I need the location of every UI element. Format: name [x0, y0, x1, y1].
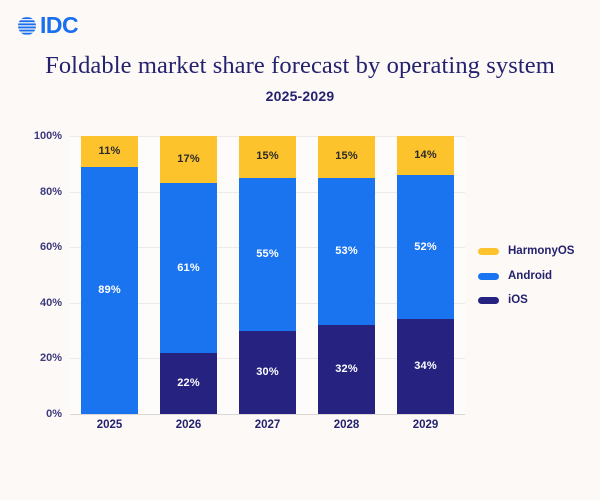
- y-axis-tick-label: 60%: [18, 241, 62, 253]
- bar-segment-ios[interactable]: 32%: [318, 325, 375, 414]
- bar-segment-label: 30%: [256, 367, 279, 378]
- bar-stack[interactable]: 11%89%: [81, 136, 138, 414]
- bar-segment-android[interactable]: 55%: [239, 178, 296, 331]
- bar-segment-label: 89%: [98, 285, 121, 296]
- bar-segment-harmonyos[interactable]: 17%: [160, 136, 217, 183]
- bar-segment-label: 11%: [98, 146, 120, 157]
- y-axis-tick-label: 20%: [18, 352, 62, 364]
- y-axis-tick-label: 100%: [18, 130, 62, 142]
- x-axis-line: [70, 414, 465, 415]
- legend-swatch: [478, 248, 499, 255]
- bar-segment-label: 61%: [177, 263, 200, 274]
- globe-stripes-icon: [16, 15, 38, 37]
- idc-logo: IDC: [16, 14, 78, 37]
- logo-wordmark: IDC: [40, 14, 78, 37]
- legend-swatch: [478, 273, 499, 280]
- bar-segment-label: 15%: [256, 151, 279, 162]
- bar-stack[interactable]: 14%52%34%: [397, 136, 454, 414]
- bar-segment-label: 14%: [414, 150, 437, 161]
- bar-stack[interactable]: 17%61%22%: [160, 136, 217, 414]
- x-axis-tick-label: 2029: [396, 419, 456, 431]
- x-axis-tick-label: 2028: [317, 419, 377, 431]
- page-subtitle: 2025-2029: [0, 88, 600, 104]
- bar-segment-label: 55%: [256, 249, 279, 260]
- bar-segment-android[interactable]: 61%: [160, 183, 217, 353]
- bar-stack[interactable]: 15%53%32%: [318, 136, 375, 414]
- x-axis-tick-label: 2027: [238, 419, 298, 431]
- page-title: Foldable market share forecast by operat…: [0, 52, 600, 80]
- bar-segment-android[interactable]: 89%: [81, 167, 138, 414]
- x-axis-tick-label: 2026: [159, 419, 219, 431]
- legend-item[interactable]: HarmonyOS: [478, 246, 574, 258]
- bar-segment-android[interactable]: 52%: [397, 175, 454, 320]
- bar-segment-harmonyos[interactable]: 11%: [81, 136, 138, 167]
- legend-item[interactable]: iOS: [478, 295, 574, 307]
- chart-legend: HarmonyOSAndroidiOS: [478, 246, 574, 307]
- bar-stack[interactable]: 15%55%30%: [239, 136, 296, 414]
- bar-segment-label: 52%: [414, 242, 437, 253]
- legend-item[interactable]: Android: [478, 271, 574, 283]
- bar-segment-label: 17%: [177, 154, 200, 165]
- bar-segment-harmonyos[interactable]: 15%: [239, 136, 296, 178]
- bar-segment-ios[interactable]: 22%: [160, 353, 217, 414]
- y-axis-tick-label: 40%: [18, 297, 62, 309]
- bar-segment-label: 32%: [335, 364, 358, 375]
- bar-segment-android[interactable]: 53%: [318, 178, 375, 325]
- legend-label: iOS: [508, 295, 528, 307]
- legend-label: HarmonyOS: [508, 246, 574, 258]
- bar-segment-ios[interactable]: 30%: [239, 331, 296, 414]
- bar-segment-label: 34%: [414, 361, 437, 372]
- bar-segment-harmonyos[interactable]: 14%: [397, 136, 454, 175]
- bar-segment-ios[interactable]: 34%: [397, 319, 454, 414]
- y-axis-tick-label: 0%: [18, 408, 62, 420]
- legend-label: Android: [508, 271, 552, 283]
- legend-swatch: [478, 297, 499, 304]
- bar-segment-label: 22%: [177, 378, 200, 389]
- x-axis-tick-label: 2025: [80, 419, 140, 431]
- bar-segment-harmonyos[interactable]: 15%: [318, 136, 375, 178]
- y-axis-tick-label: 80%: [18, 186, 62, 198]
- bar-segment-label: 53%: [335, 246, 358, 257]
- bar-segment-label: 15%: [335, 151, 358, 162]
